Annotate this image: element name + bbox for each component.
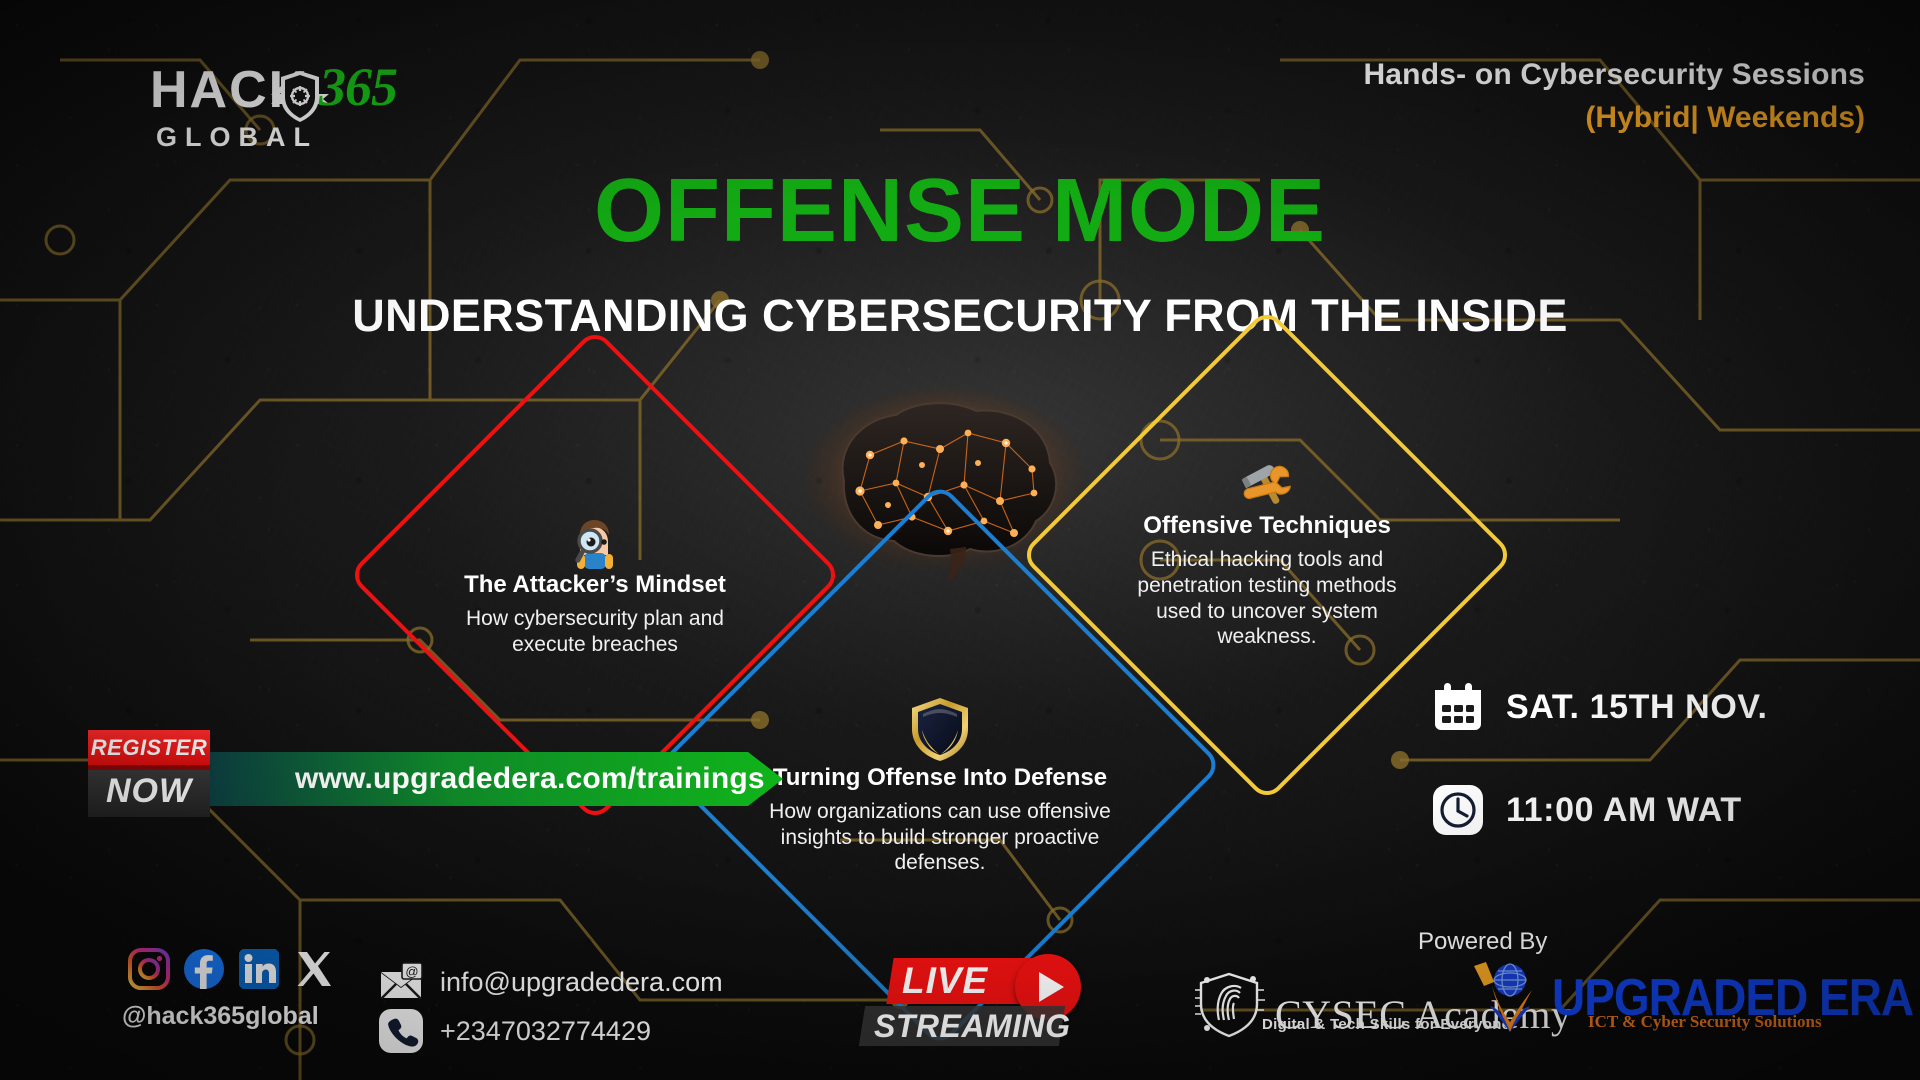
card-description: How cybersecurity plan and execute breac… <box>446 606 744 657</box>
gold-shield-icon <box>909 696 971 762</box>
hammer-and-wrench-icon <box>1238 460 1296 510</box>
sponsor-era-tagline: ICT & Cyber Security Solutions <box>1588 1012 1822 1032</box>
linkedin-icon[interactable] <box>238 948 280 990</box>
card-attackers-mindset[interactable]: The Attacker’s Mindset How cybersecurity… <box>420 400 770 750</box>
contact-phone-text: +2347032774429 <box>440 1016 651 1047</box>
header-tagline: Hands- on Cybersecurity Sessions (Hybrid… <box>1363 58 1865 135</box>
page-title: OFFENSE MODE <box>0 166 1920 256</box>
event-date-row: SAT. 15TH NOV. <box>1432 682 1768 732</box>
card-turning-offense-into-defense[interactable]: Turning Offense Into Defense How organiz… <box>740 565 1140 965</box>
live-streaming-badge[interactable]: LIVE STREAMING <box>862 958 1102 1058</box>
phone-icon <box>378 1008 424 1054</box>
powered-by-label: Powered By <box>1418 928 1547 956</box>
header-line-1: Hands- on Cybersecurity Sessions <box>1363 58 1865 92</box>
register-url-link[interactable]: www.upgradedera.com/trainings <box>295 762 765 796</box>
live-label: LIVE <box>902 960 1032 1002</box>
globe-swoosh-icon <box>1470 960 1542 1034</box>
clock-icon <box>1432 784 1484 836</box>
streaming-label: STREAMING <box>874 1008 1071 1045</box>
card-title: Offensive Techniques <box>1143 512 1391 540</box>
poster-canvas: HACK 365 GLOBAL Hands- on Cybersecurity … <box>0 0 1920 1080</box>
page-subtitle: UNDERSTANDING CYBERSECURITY FROM THE INS… <box>0 290 1920 342</box>
event-date-text: SAT. 15TH NOV. <box>1506 688 1768 727</box>
facebook-icon[interactable] <box>183 948 225 990</box>
social-handle: @hack365global <box>122 1002 319 1031</box>
register-badge[interactable]: REGISTER NOW <box>88 730 210 822</box>
register-banner[interactable]: REGISTER NOW www.upgradedera.com/trainin… <box>88 730 698 828</box>
event-time-text: 11:00 AM WAT <box>1506 791 1742 830</box>
card-description: Ethical hacking tools and penetration te… <box>1118 547 1416 649</box>
card-description: How organizations can use offensive insi… <box>766 799 1114 876</box>
register-badge-top: REGISTER <box>88 730 210 770</box>
register-badge-bottom: NOW <box>88 770 210 822</box>
detective-magnifier-icon <box>566 511 624 569</box>
card-title: The Attacker’s Mindset <box>464 571 726 599</box>
envelope-at-icon: @ <box>378 962 424 1002</box>
card-title: Turning Offense Into Defense <box>773 764 1107 792</box>
contact-email-text: info@upgradedera.com <box>440 967 723 998</box>
header-line-2: (Hybrid| Weekends) <box>1363 101 1865 135</box>
logo-365-text: 365 <box>319 56 397 118</box>
contact-email-row[interactable]: @ info@upgradedera.com <box>378 962 723 1002</box>
brand-logo[interactable]: HACK 365 GLOBAL <box>150 60 380 170</box>
logo-global-text: GLOBAL <box>156 122 318 153</box>
social-links[interactable] <box>128 948 335 990</box>
card-offensive-techniques[interactable]: Offensive Techniques Ethical hacking too… <box>1092 380 1442 730</box>
calendar-icon <box>1432 682 1484 732</box>
contact-phone-row[interactable]: +2347032774429 <box>378 1008 651 1054</box>
fingerprint-circuit-icon <box>1195 970 1265 1038</box>
svg-text:@: @ <box>405 964 418 979</box>
x-twitter-icon[interactable] <box>293 948 335 990</box>
instagram-icon[interactable] <box>128 948 170 990</box>
event-time-row: 11:00 AM WAT <box>1432 784 1742 836</box>
